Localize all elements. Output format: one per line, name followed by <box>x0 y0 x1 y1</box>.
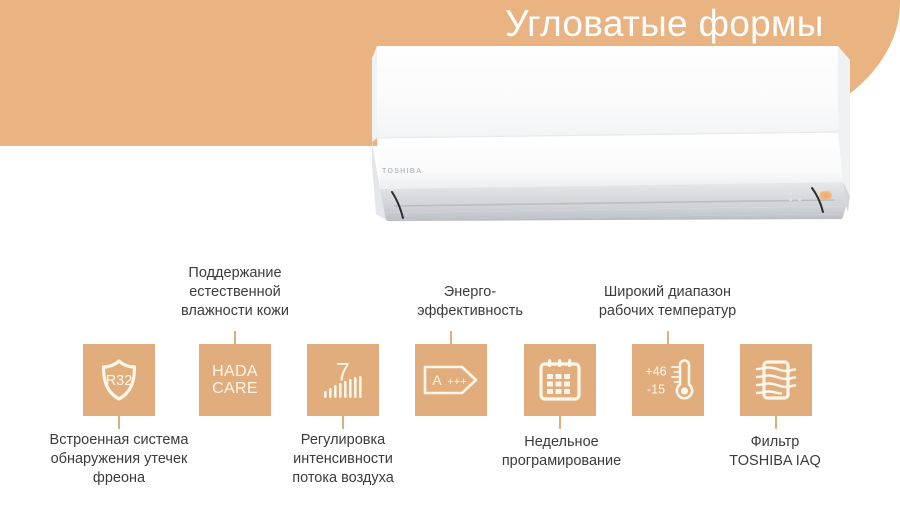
led-indicator <box>789 186 792 189</box>
air-conditioner-image <box>372 46 850 221</box>
brand-logo: TOSHIBA <box>382 168 422 175</box>
energy-label-glyph: A +++ <box>422 363 480 397</box>
thermometer-icon: +46 -15 <box>632 344 704 416</box>
air-filter-icon <box>740 344 812 416</box>
feature-caption: Недельное програмирование <box>479 433 644 471</box>
calendar-glyph <box>537 357 583 403</box>
feature-caption: Поддержание естественной влажности кожи <box>155 264 315 321</box>
led-indicator <box>798 186 801 189</box>
feature-caption: Регулировка интенсивности потока воздуха <box>263 431 423 488</box>
hada-care-icon: HADA CARE <box>199 344 271 416</box>
connector-stem <box>775 416 777 429</box>
hada-care-label: HADA CARE <box>199 363 271 397</box>
hero-banner: Угловатые формы <box>0 0 900 232</box>
fan-speed-7-icon: 7 <box>307 344 379 416</box>
svg-text:+46: +46 <box>645 364 666 378</box>
led-indicator-group <box>789 186 815 204</box>
svg-text:-15: -15 <box>647 382 665 396</box>
led-indicator <box>798 192 801 195</box>
feature-caption: Фильтр TOSHIBA IAQ <box>700 433 850 471</box>
led-indicator <box>789 192 792 195</box>
feature-caption: Широкий диапазон рабочих температур <box>585 283 750 321</box>
feature-caption: Энерго- эффективность <box>390 283 550 321</box>
calendar-icon <box>524 344 596 416</box>
svg-text:R32: R32 <box>106 373 133 389</box>
page-title: Угловатые формы <box>505 3 824 45</box>
led-indicator <box>798 198 801 201</box>
air-filter-glyph <box>750 356 802 404</box>
svg-text:A: A <box>432 372 442 388</box>
shield-r32-icon: R32 <box>83 344 155 416</box>
connector-stem <box>450 331 452 344</box>
shield-r32-glyph: R32 <box>95 356 143 404</box>
svg-text:+++: +++ <box>447 376 466 388</box>
fan-speed-7-glyph: 7 <box>317 354 369 406</box>
connector-stem <box>118 416 120 429</box>
svg-text:7: 7 <box>336 359 350 387</box>
feature-list: R32 Встроенная система обнаружения утече… <box>0 232 900 506</box>
thermometer-glyph: +46 -15 <box>639 357 697 403</box>
connector-stem <box>667 331 669 344</box>
connector-stem <box>234 331 236 344</box>
power-indicator-light <box>819 191 832 200</box>
feature-caption: Встроенная система обнаружения утечек фр… <box>14 431 224 488</box>
connector-stem <box>559 416 561 429</box>
led-indicator <box>789 198 792 201</box>
energy-label-a-plus-icon: A +++ <box>415 344 487 416</box>
connector-stem <box>342 416 344 429</box>
ac-body-svg <box>372 46 850 221</box>
